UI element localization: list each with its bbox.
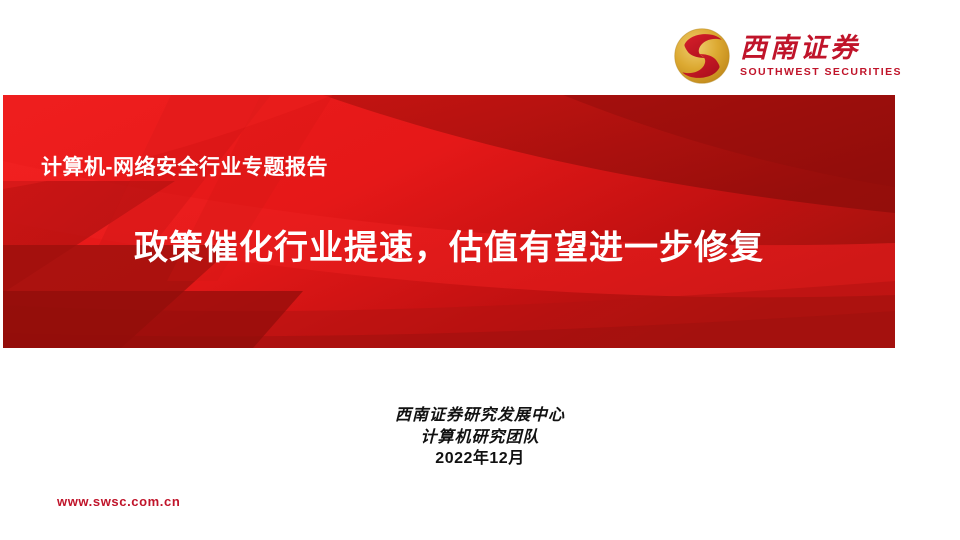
slide-header: 西南证券 SOUTHWEST SECURITIES [0, 0, 960, 95]
brand-logo-lockup: 西南证券 SOUTHWEST SECURITIES [673, 27, 902, 85]
credits-block: 西南证券研究发展中心 计算机研究团队 2022年12月 [0, 404, 960, 470]
company-website-url[interactable]: www.swsc.com.cn [57, 494, 180, 509]
credit-institution: 西南证券研究发展中心 [0, 404, 960, 426]
southwest-securities-swirl-logo-icon [673, 27, 731, 85]
report-main-title: 政策催化行业提速，估值有望进一步修复 [3, 220, 895, 269]
brand-text-block: 西南证券 SOUTHWEST SECURITIES [740, 33, 902, 79]
title-banner: 计算机-网络安全行业专题报告 政策催化行业提速，估值有望进一步修复 [3, 95, 895, 348]
brand-name-en: SOUTHWEST SECURITIES [740, 67, 902, 79]
brand-name-cn: 西南证券 [740, 35, 860, 63]
credit-date: 2022年12月 [0, 448, 960, 470]
report-subtitle: 计算机-网络安全行业专题报告 [41, 151, 328, 181]
presentation-cover-slide: 西南证券 SOUTHWEST SECURITIES [0, 0, 960, 540]
credit-team: 计算机研究团队 [0, 426, 960, 448]
